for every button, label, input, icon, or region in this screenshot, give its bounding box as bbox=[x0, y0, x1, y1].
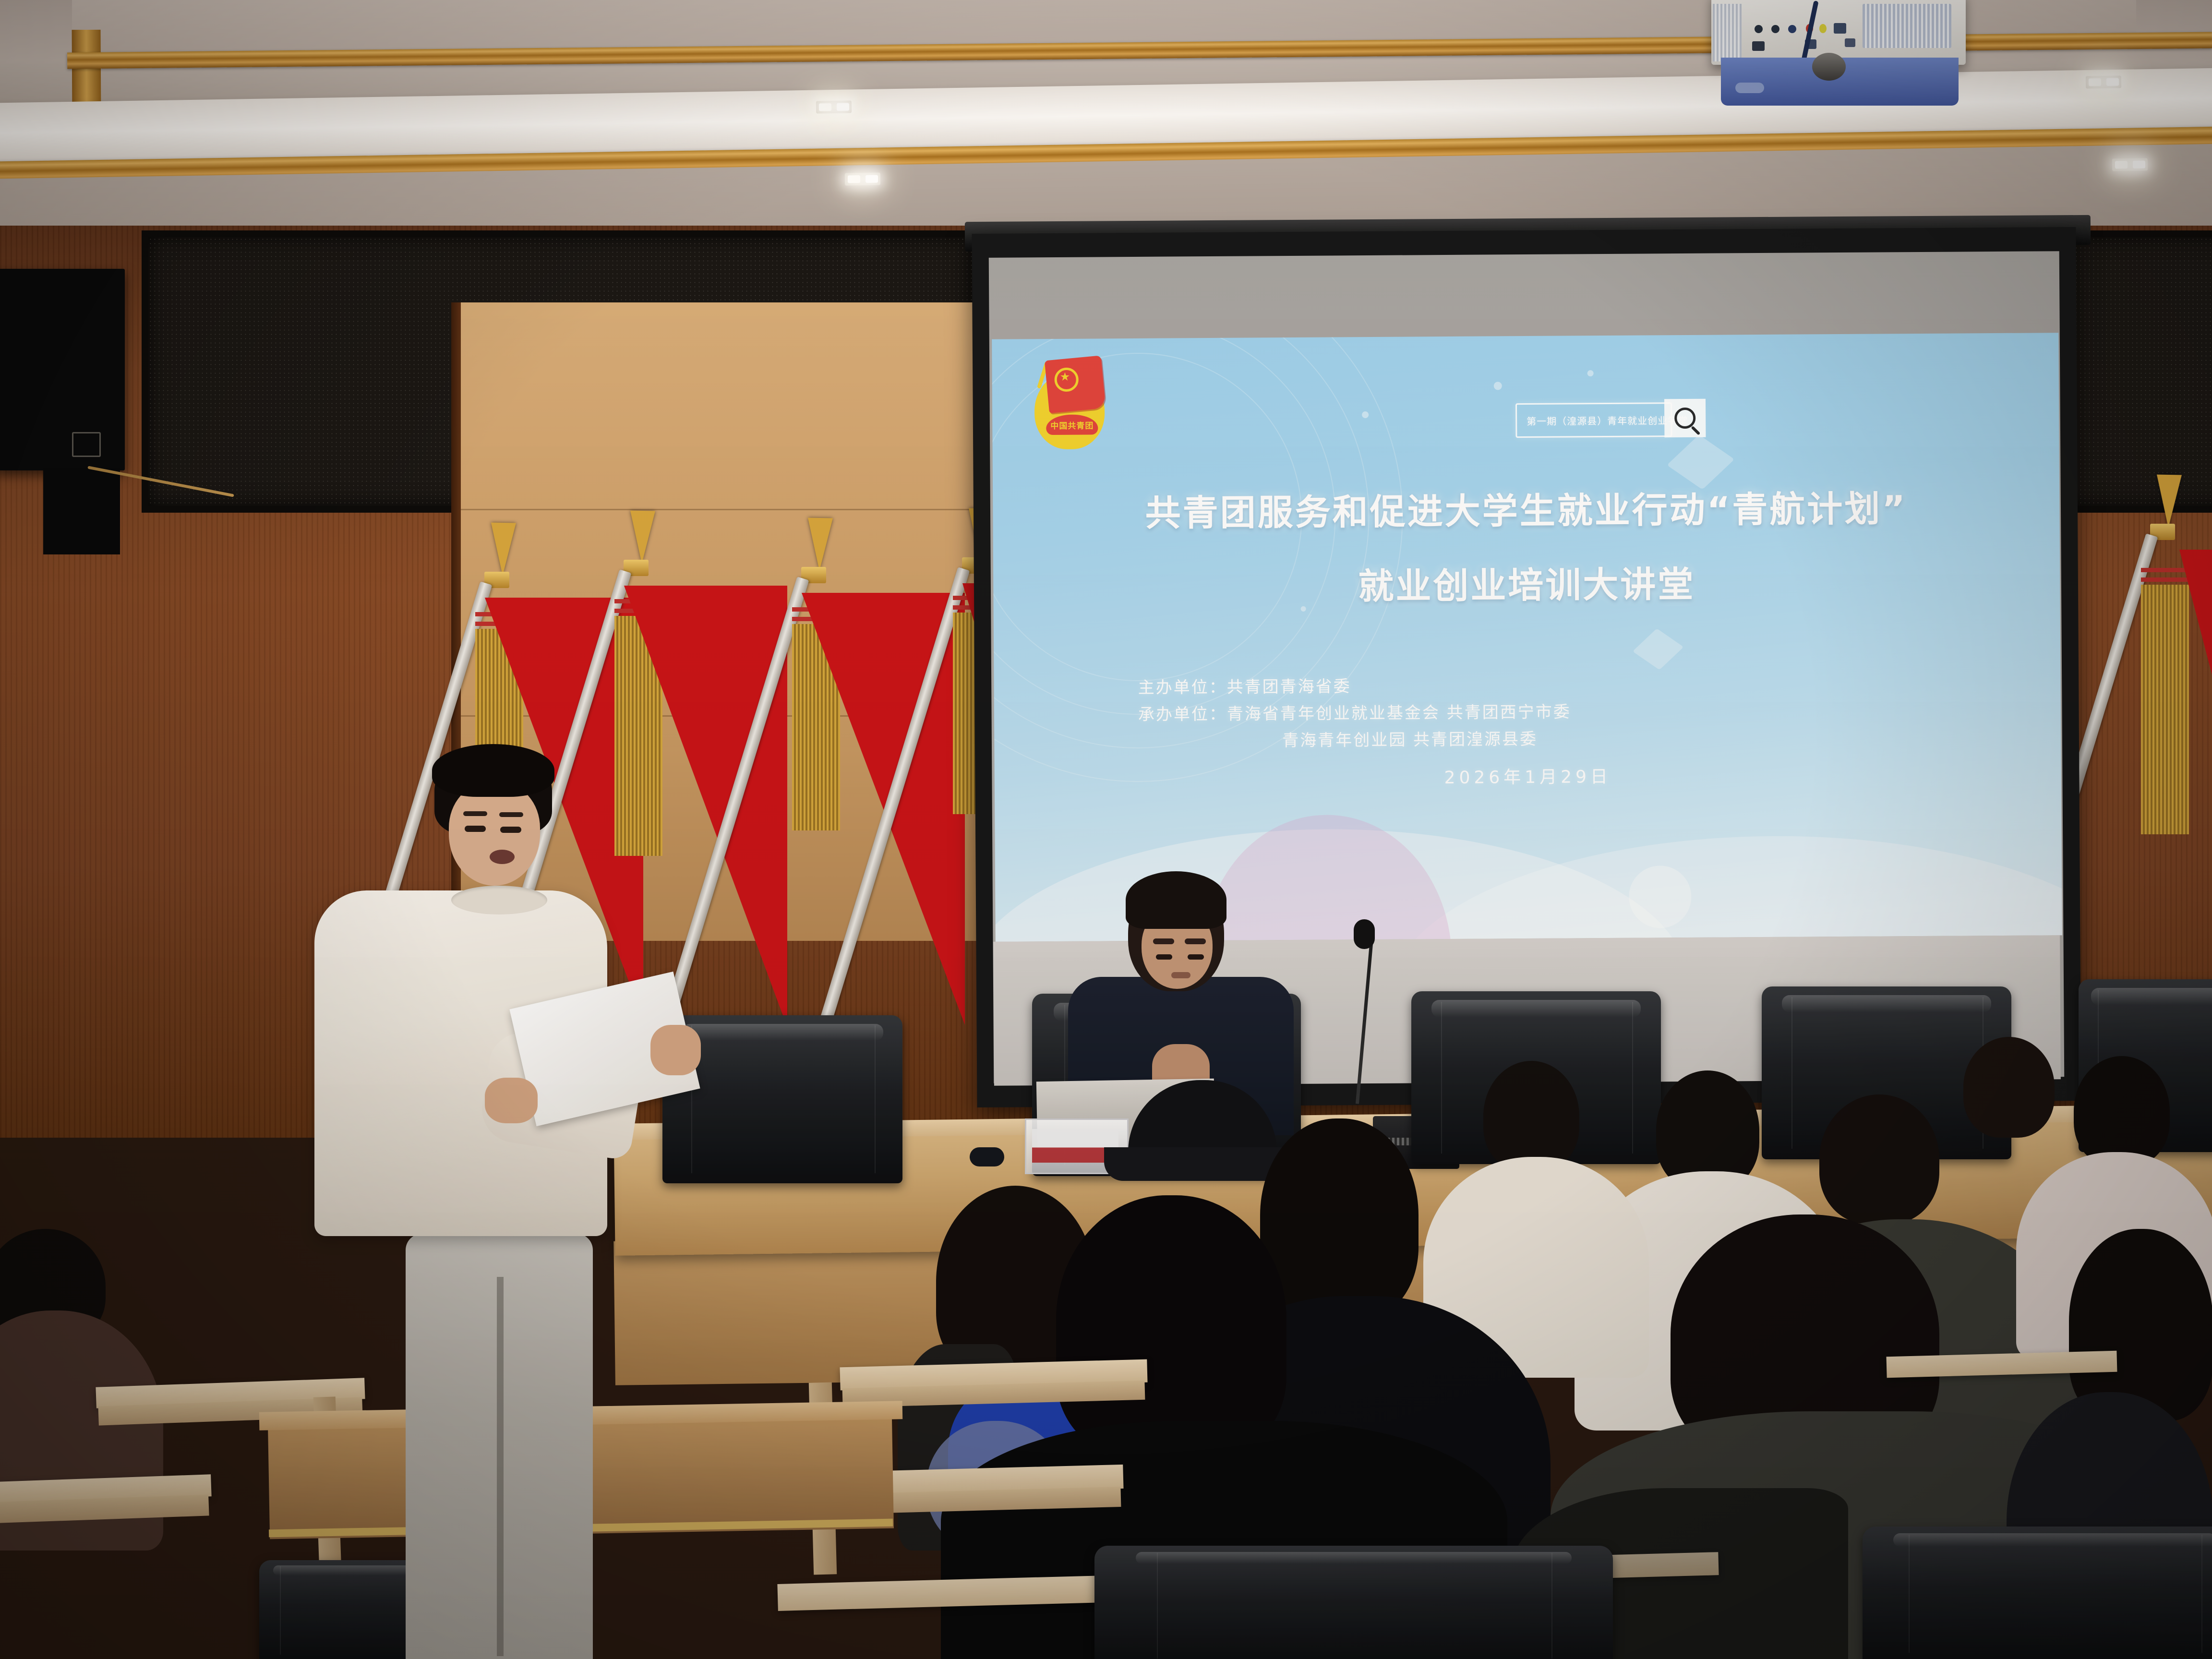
projector-port-icon bbox=[1845, 38, 1855, 47]
downlight bbox=[2088, 78, 2101, 86]
audience-head bbox=[1260, 1118, 1419, 1320]
flag-spear-icon bbox=[629, 511, 655, 564]
presider-eye bbox=[1156, 954, 1172, 960]
flag-spear-icon bbox=[2156, 475, 2182, 528]
audience-head bbox=[2069, 1229, 2212, 1421]
flag-spear-icon bbox=[807, 518, 833, 571]
gooseneck-microphone-capsule bbox=[1354, 919, 1375, 949]
projector-side-vent bbox=[1713, 4, 1742, 61]
presider-mouth bbox=[1171, 972, 1190, 978]
downlight bbox=[865, 175, 878, 183]
audience-head bbox=[1963, 1037, 2055, 1138]
speaker-fringe bbox=[432, 744, 554, 797]
downlight bbox=[836, 103, 849, 111]
wall-speaker bbox=[0, 269, 125, 470]
speaker-hand bbox=[485, 1078, 538, 1123]
downlight bbox=[818, 103, 831, 111]
acoustic-panel-right bbox=[2055, 230, 2212, 513]
projector-ceiling-mount bbox=[1812, 53, 1846, 81]
speaker-face bbox=[449, 782, 540, 886]
audience-head bbox=[1056, 1195, 1286, 1455]
slide-title-line1: 共青团服务和促进大学生就业行动“青航计划” bbox=[993, 479, 2060, 537]
audience-chair bbox=[1863, 1527, 2212, 1659]
downlight-fixture bbox=[845, 172, 880, 185]
presider-eye bbox=[1188, 954, 1204, 960]
speaker-bracket bbox=[43, 468, 120, 554]
photo-scene: ★ 中国共青团 第一期（湟源县）青年就业创业学堂 共青团服务和促进大学生就业行动… bbox=[0, 0, 2212, 1659]
speaker-eye bbox=[465, 826, 486, 832]
slide-title-line2: 就业创业培训大讲堂 bbox=[993, 553, 2060, 612]
acoustic-mesh bbox=[2061, 237, 2212, 506]
flag-cloth bbox=[605, 586, 787, 1027]
projector-port-icon bbox=[1752, 41, 1765, 51]
downlight bbox=[2106, 78, 2118, 86]
downlight-fixture bbox=[816, 100, 852, 113]
projector-port-icon bbox=[1834, 23, 1846, 34]
speaker-eyebrow bbox=[463, 811, 487, 816]
projector-port-icon bbox=[1819, 24, 1827, 33]
slide-search-pill-text: 第一期（湟源县）青年就业创业学堂 bbox=[1517, 412, 1688, 427]
slide-search-pill: 第一期（湟源县）青年就业创业学堂 bbox=[1515, 402, 1672, 438]
speaker-hand bbox=[650, 1025, 701, 1075]
speaker-trouser-seam bbox=[497, 1277, 504, 1656]
cyl-emblem-text: 中国共青团 bbox=[1046, 419, 1098, 431]
audience-head bbox=[1483, 1061, 1579, 1171]
presider-eyebrow bbox=[1185, 938, 1206, 944]
downlight bbox=[2132, 161, 2145, 168]
projector-port-icon bbox=[1771, 25, 1779, 33]
slide-host-line1: 承办单位：青海省青年创业就业基金会 共青团西宁市委 bbox=[1138, 698, 1571, 725]
cyl-emblem-icon: ★ 中国共青团 bbox=[1026, 358, 1112, 449]
projector-indicator bbox=[1735, 83, 1764, 93]
presider-eyebrow bbox=[1153, 938, 1174, 944]
slide-organizer-line: 主办单位：共青团青海省委 bbox=[1138, 673, 1351, 698]
projector-vent-grille bbox=[1863, 4, 1951, 48]
downlight-fixture bbox=[2086, 75, 2121, 88]
speaker-mouth bbox=[490, 850, 515, 864]
downlight bbox=[2115, 161, 2127, 168]
presider-hair bbox=[1126, 871, 1226, 929]
presentation-slide: ★ 中国共青团 第一期（湟源县）青年就业创业学堂 共青团服务和促进大学生就业行动… bbox=[992, 333, 2062, 942]
flag-spear-icon bbox=[490, 523, 516, 576]
audience-head bbox=[2074, 1056, 2170, 1166]
downlight bbox=[847, 175, 860, 183]
downlight-fixture bbox=[2112, 158, 2148, 171]
projector-port-icon bbox=[1755, 25, 1763, 33]
desk-knob-object bbox=[970, 1147, 1004, 1166]
speaker-eyebrow bbox=[499, 812, 523, 817]
audience-chair bbox=[1094, 1546, 1613, 1659]
speaker-logo bbox=[72, 432, 101, 457]
projector-port-icon bbox=[1788, 25, 1796, 33]
slide-host-line2: 青海青年创业园 共青团湟源县委 bbox=[1282, 726, 1538, 751]
speaker-collar bbox=[451, 886, 547, 914]
speaker-eye bbox=[500, 827, 521, 833]
audience-head bbox=[1819, 1094, 1939, 1224]
search-icon bbox=[1664, 399, 1706, 438]
